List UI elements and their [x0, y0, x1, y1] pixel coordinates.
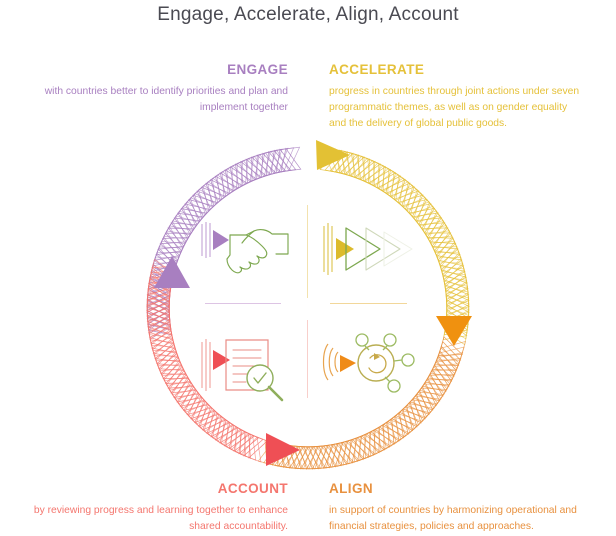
body-align: in support of countries by harmonizing o… — [329, 503, 597, 535]
network-molecule-icon — [324, 334, 415, 392]
document-magnifier-icon — [202, 339, 282, 400]
divider-horizontal-right — [330, 303, 407, 304]
body-align-line-1: in support of countries by harmonizing o… — [329, 503, 597, 519]
body-engage: with countries better to identify priori… — [20, 84, 288, 116]
cycle-diagram — [118, 128, 498, 488]
heading-account: ACCOUNT — [20, 481, 288, 496]
arc-engage-band — [147, 147, 301, 339]
body-accelerate-line-3: and the delivery of global public goods. — [329, 116, 597, 132]
heading-align: ALIGN — [329, 481, 597, 496]
body-accelerate-line-2: programmatic themes, as well as on gende… — [329, 100, 597, 116]
body-engage-line-1: with countries better to identify priori… — [20, 84, 288, 100]
quadrant-text-accelerate: ACCELERATE progress in countries through… — [329, 62, 597, 132]
body-account-line-1: by reviewing progress and learning toget… — [20, 503, 288, 519]
arc-account-band — [147, 259, 267, 462]
heading-accelerate: ACCELERATE — [329, 62, 597, 77]
body-engage-line-2: implement together — [20, 100, 288, 116]
quadrant-text-align: ALIGN in support of countries by harmoni… — [329, 481, 597, 535]
page-root: Engage, Accelerate, Align, Account — [0, 0, 616, 536]
body-align-line-2: financial strategies, policies and appro… — [329, 519, 597, 535]
divider-horizontal-left — [205, 303, 281, 304]
body-accelerate-line-1: progress in countries through joint acti… — [329, 84, 597, 100]
page-title: Engage, Accelerate, Align, Account — [0, 4, 616, 26]
body-accelerate: progress in countries through joint acti… — [329, 84, 597, 132]
divider-vertical-bottom — [307, 320, 308, 398]
handshake-icon — [202, 222, 288, 273]
quadrant-text-engage: ENGAGE with countries better to identify… — [20, 62, 288, 116]
body-account-line-2: shared accountability. — [20, 519, 288, 535]
quadrant-text-account: ACCOUNT by reviewing progress and learni… — [20, 481, 288, 535]
body-account: by reviewing progress and learning toget… — [20, 503, 288, 535]
play-arrow-icon — [324, 223, 412, 275]
heading-engage: ENGAGE — [20, 62, 288, 77]
divider-vertical-top — [307, 205, 308, 298]
arrowhead-accelerate — [316, 140, 350, 170]
